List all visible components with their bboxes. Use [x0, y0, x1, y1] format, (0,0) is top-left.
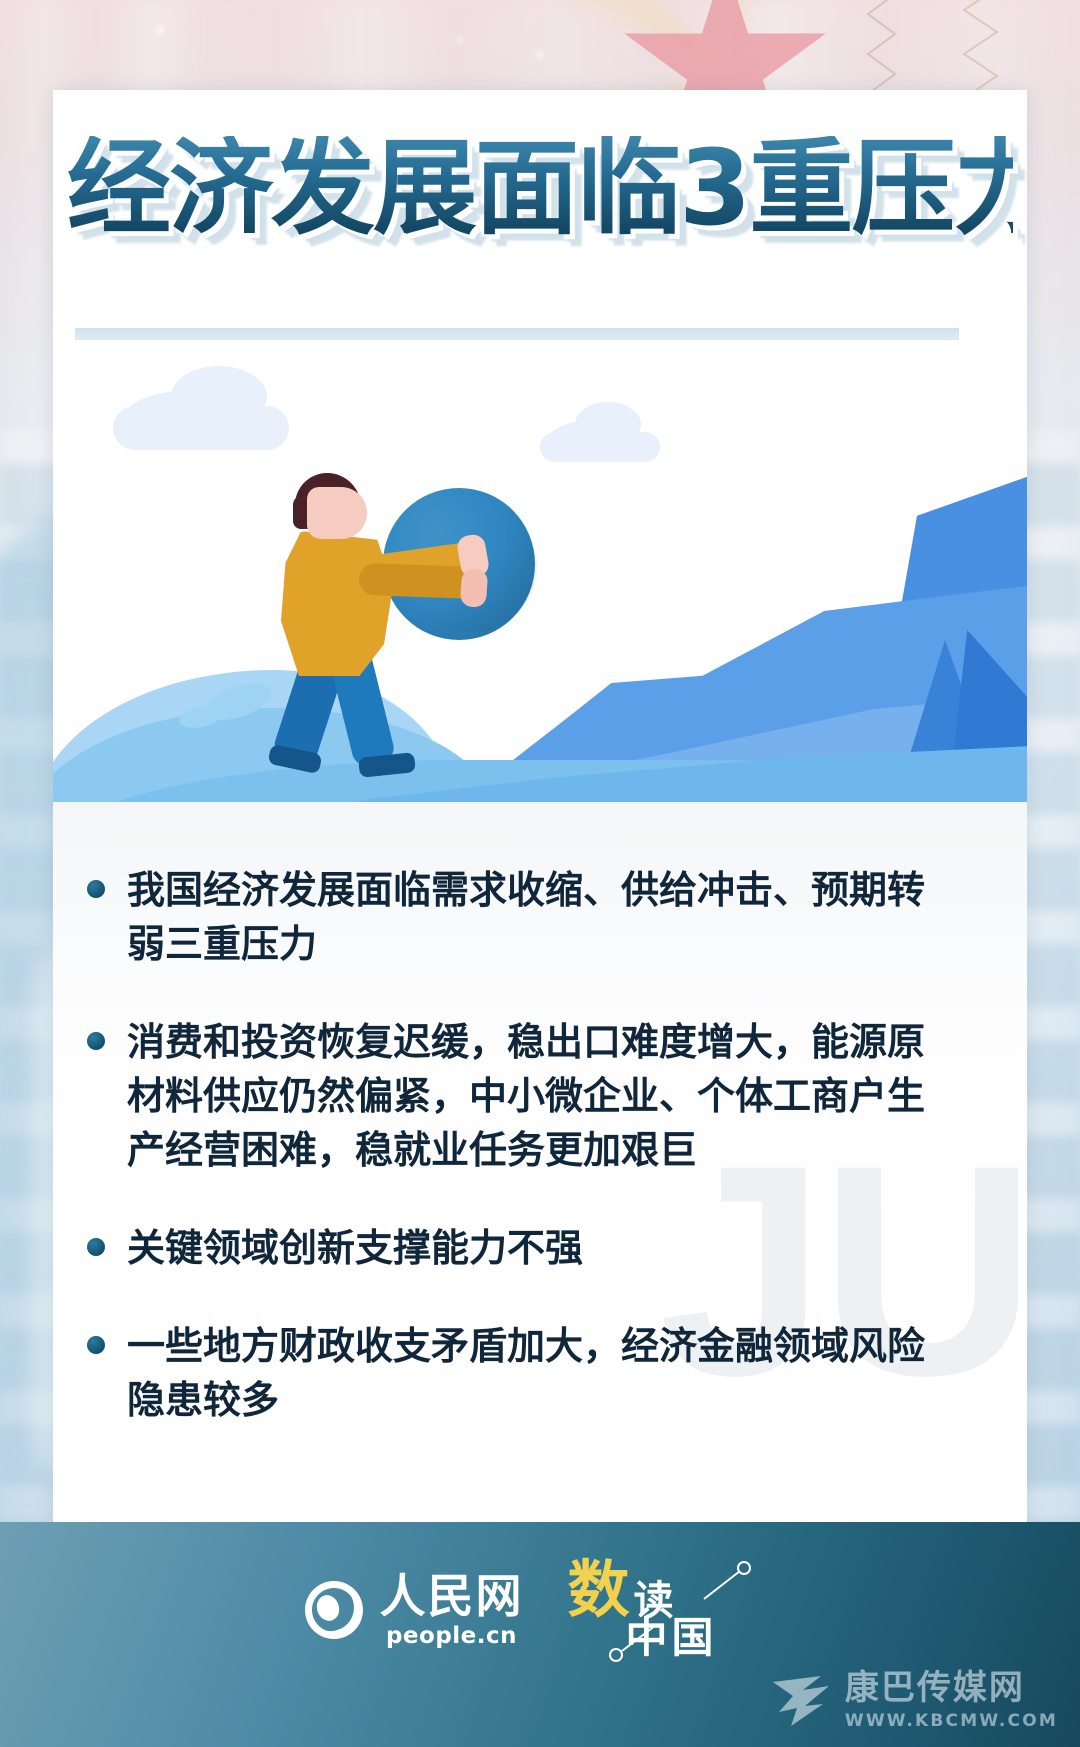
- bullet-text: 我国经济发展面临需求收缩、供给冲击、预期转弱三重压力: [127, 864, 927, 972]
- bullet-text: 一些地方财政收支矛盾加大，经济金融领域风险隐患较多: [127, 1320, 927, 1428]
- bullet-section: JU 我国经济发展面临需求收缩、供给冲击、预期转弱三重压力 消费和投资恢复迟缓，…: [53, 802, 1027, 1522]
- bullet-dot-icon: [87, 1336, 105, 1354]
- bullet-dot-icon: [87, 880, 105, 898]
- people-cn-logo[interactable]: 人民网 people.cn: [302, 1573, 524, 1648]
- people-globe-icon: [302, 1578, 366, 1642]
- series-logo-line-two: 中国: [626, 1617, 718, 1659]
- title-section: 经济发展面临3重压力: [53, 90, 1027, 345]
- site-watermark-name: 康巴传媒网: [845, 1671, 1058, 1707]
- list-item: 一些地方财政收支矛盾加大，经济金融领域风险隐患较多: [87, 1320, 967, 1428]
- bullet-dot-icon: [87, 1032, 105, 1050]
- bullet-text: 关键领域创新支撑能力不强: [127, 1222, 927, 1276]
- series-logo-char-highlight: 数: [568, 1559, 630, 1621]
- list-item: 关键领域创新支撑能力不强: [87, 1222, 967, 1276]
- cloud-icon: [113, 406, 289, 450]
- series-logo[interactable]: 数 读 中国: [564, 1555, 779, 1665]
- person-face: [307, 487, 367, 539]
- bullet-list: 我国经济发展面临需求收缩、供给冲击、预期转弱三重压力 消费和投资恢复迟缓，稳出口…: [87, 864, 967, 1472]
- bullet-text: 消费和投资恢复迟缓，稳出口难度增大，能源原材料供应仍然偏紧，中小微企业、个体工商…: [127, 1016, 927, 1178]
- people-cn-label: 人民网: [380, 1573, 524, 1619]
- footer-bar: 人民网 people.cn 数 读 中国 康巴: [0, 1522, 1080, 1747]
- people-cn-text: 人民网 people.cn: [380, 1573, 524, 1648]
- footer-logos: 人民网 people.cn 数 读 中国: [0, 1550, 1080, 1670]
- poster-page: 经济发展面临3重压力: [0, 0, 1080, 1747]
- list-item: 我国经济发展面临需求收缩、供给冲击、预期转弱三重压力: [87, 864, 967, 972]
- person-coat: [281, 531, 393, 676]
- kbcmw-mark-icon: [771, 1672, 833, 1730]
- site-watermark-url: WWW.KBCMW.COM: [845, 1711, 1058, 1731]
- person-figure: [263, 465, 483, 735]
- cloud-icon: [540, 432, 660, 462]
- site-watermark-text: 康巴传媒网 WWW.KBCMW.COM: [845, 1671, 1058, 1731]
- page-title: 经济发展面临3重压力: [67, 136, 1013, 240]
- list-item: 消费和投资恢复迟缓，稳出口难度增大，能源原材料供应仍然偏紧，中小微企业、个体工商…: [87, 1016, 967, 1178]
- people-cn-url: people.cn: [386, 1625, 517, 1648]
- content-card: 经济发展面临3重压力: [53, 90, 1027, 1522]
- bullet-dot-icon: [87, 1238, 105, 1256]
- site-watermark: 康巴传媒网 WWW.KBCMW.COM: [771, 1671, 1058, 1731]
- person-hand-lower: [460, 568, 489, 608]
